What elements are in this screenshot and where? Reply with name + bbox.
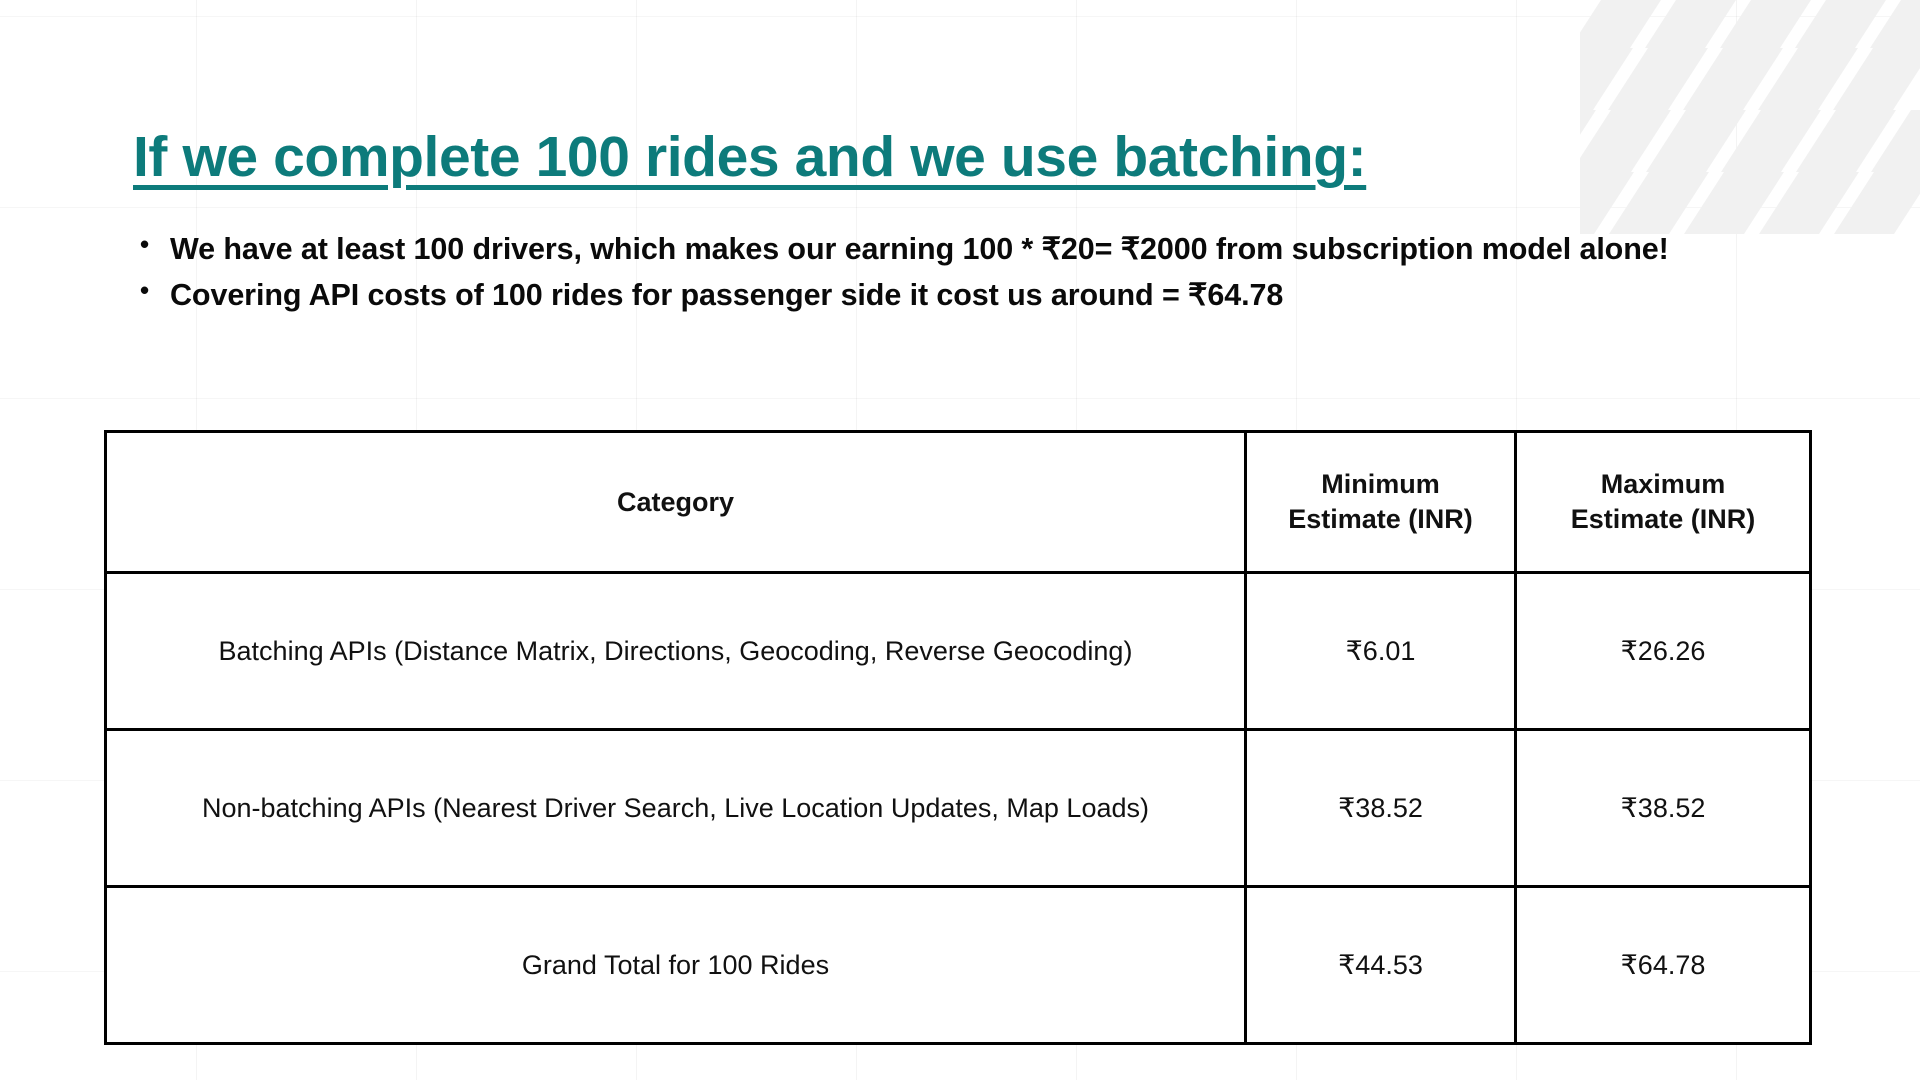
cell-minimum: ₹38.52	[1246, 730, 1516, 887]
cell-category: Non-batching APIs (Nearest Driver Search…	[106, 730, 1246, 887]
cell-category: Grand Total for 100 Rides	[106, 887, 1246, 1044]
api-cost-table: Category Minimum Estimate (INR) Maximum …	[104, 430, 1812, 1045]
table-row: Batching APIs (Distance Matrix, Directio…	[106, 573, 1811, 730]
cell-maximum: ₹64.78	[1516, 887, 1811, 1044]
cell-category: Batching APIs (Distance Matrix, Directio…	[106, 573, 1246, 730]
column-header-maximum-line2: Estimate (INR)	[1571, 504, 1756, 534]
table-row: Non-batching APIs (Nearest Driver Search…	[106, 730, 1811, 887]
column-header-maximum: Maximum Estimate (INR)	[1516, 432, 1811, 573]
cell-minimum: ₹44.53	[1246, 887, 1516, 1044]
list-item: Covering API costs of 100 rides for pass…	[170, 274, 1910, 318]
cell-maximum: ₹26.26	[1516, 573, 1811, 730]
table-header-row: Category Minimum Estimate (INR) Maximum …	[106, 432, 1811, 573]
column-header-maximum-line1: Maximum	[1601, 469, 1726, 499]
list-item: We have at least 100 drivers, which make…	[170, 228, 1910, 272]
slide-canvas: If we complete 100 rides and we use batc…	[0, 0, 1920, 1080]
column-header-minimum-line2: Estimate (INR)	[1288, 504, 1473, 534]
chevron-decoration	[1580, 0, 1920, 236]
cell-maximum: ₹38.52	[1516, 730, 1811, 887]
bullet-list: We have at least 100 drivers, which make…	[134, 228, 1910, 320]
cell-minimum: ₹6.01	[1246, 573, 1516, 730]
table-row: Grand Total for 100 Rides ₹44.53 ₹64.78	[106, 887, 1811, 1044]
page-title: If we complete 100 rides and we use batc…	[133, 124, 1366, 190]
column-header-minimum-line1: Minimum	[1321, 469, 1440, 499]
column-header-category: Category	[106, 432, 1246, 573]
column-header-minimum: Minimum Estimate (INR)	[1246, 432, 1516, 573]
